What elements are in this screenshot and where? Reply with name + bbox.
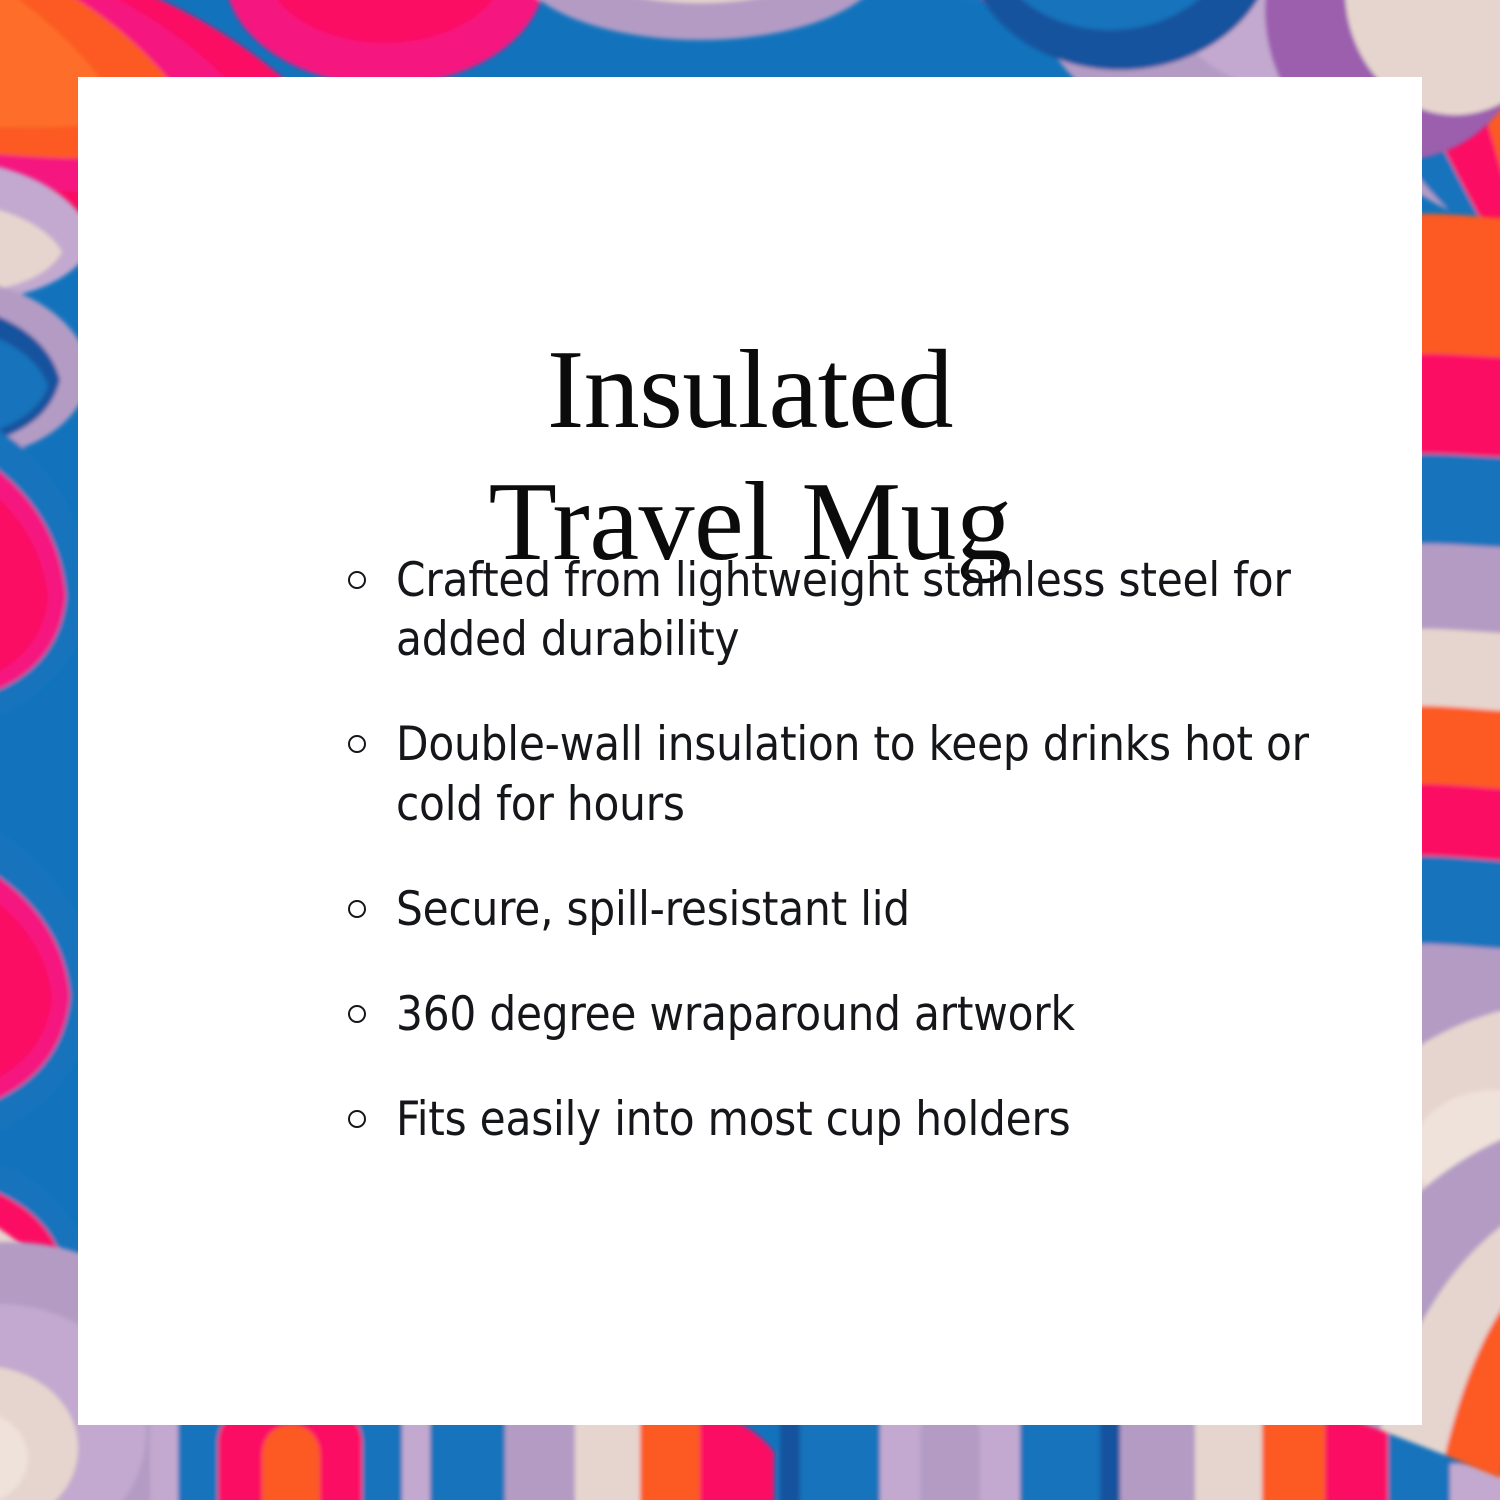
feature-text: 360 degree wraparound artwork: [396, 985, 1355, 1044]
hollow-circle-bullet-icon: [348, 735, 366, 753]
list-item: 360 degree wraparound artwork: [345, 985, 1355, 1044]
list-item: Fits easily into most cup holders: [345, 1090, 1355, 1149]
list-item: Crafted from lightweight stainless steel…: [345, 551, 1355, 669]
title-line-1: Insulated: [78, 324, 1422, 456]
hollow-circle-bullet-icon: [348, 571, 366, 589]
list-item: Double-wall insulation to keep drinks ho…: [345, 715, 1355, 833]
list-item: Secure, spill-resistant lid: [345, 880, 1355, 939]
product-info-card: Insulated Travel Mug Crafted from lightw…: [78, 77, 1422, 1425]
hollow-circle-bullet-icon: [348, 1110, 366, 1128]
feature-text: Secure, spill-resistant lid: [396, 880, 1355, 939]
feature-text: Double-wall insulation to keep drinks ho…: [396, 715, 1355, 833]
feature-list: Crafted from lightweight stainless steel…: [345, 551, 1355, 1150]
hollow-circle-bullet-icon: [348, 900, 366, 918]
page-title: Insulated Travel Mug: [78, 324, 1422, 588]
feature-text: Crafted from lightweight stainless steel…: [396, 551, 1355, 669]
feature-text: Fits easily into most cup holders: [396, 1090, 1355, 1149]
infographic-canvas: Insulated Travel Mug Crafted from lightw…: [0, 0, 1500, 1500]
hollow-circle-bullet-icon: [348, 1005, 366, 1023]
